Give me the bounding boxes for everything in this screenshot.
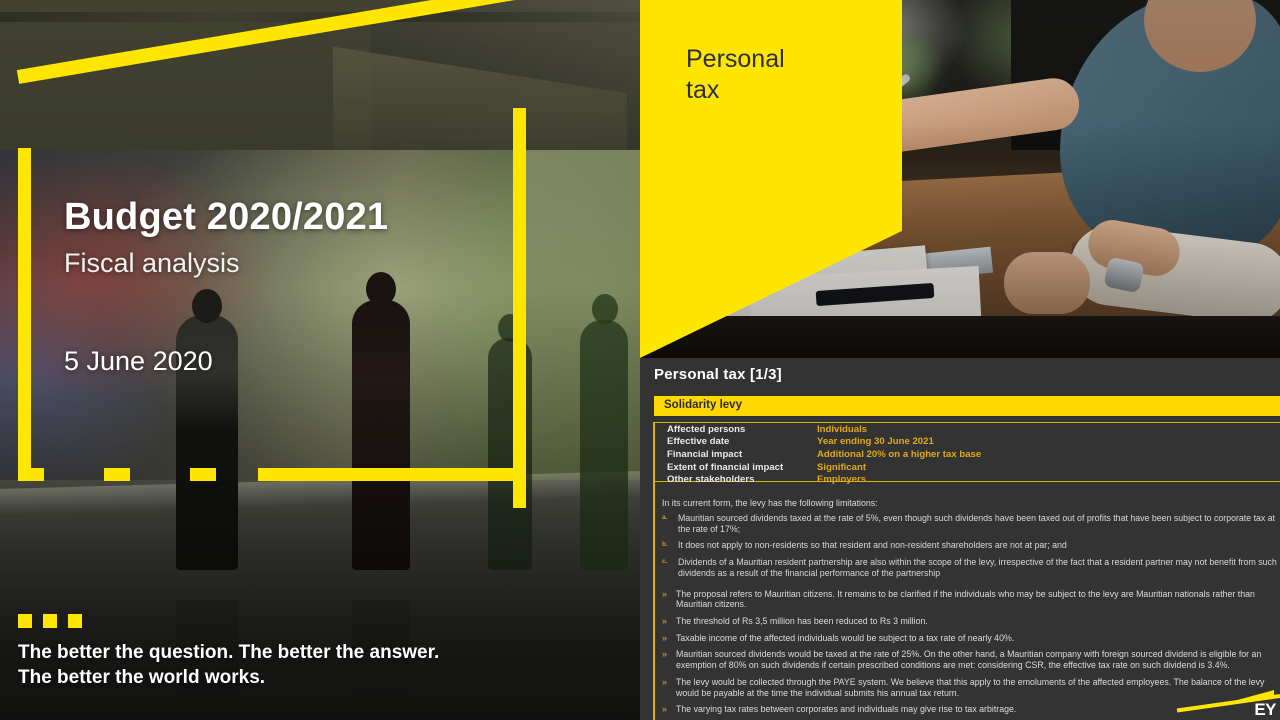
letter-marker-icon: c. bbox=[662, 557, 678, 578]
list-item-text: The varying tax rates between corporates… bbox=[676, 704, 1016, 715]
slide-pair-canvas: Budget 2020/2021 Fiscal analysis 5 June … bbox=[0, 0, 1280, 720]
table-row-value: Significant bbox=[817, 462, 866, 473]
list-item-text: The threshold of Rs 3,5 million has been… bbox=[676, 616, 928, 627]
body-copy: In its current form, the levy has the fo… bbox=[662, 498, 1278, 720]
list-item: »Taxable income of the affected individu… bbox=[662, 633, 1278, 644]
table-row-label: Other stakeholders bbox=[667, 474, 817, 485]
table-row: Financial impactAdditional 20% on a high… bbox=[655, 448, 1280, 461]
presentation-date: 5 June 2020 bbox=[64, 346, 213, 377]
section-label: Personal tax bbox=[686, 44, 785, 105]
list-item-text: Mauritian sourced dividends would be tax… bbox=[676, 649, 1278, 670]
frame-edge-bottom bbox=[258, 468, 526, 481]
list-item-text: The proposal refers to Mauritian citizen… bbox=[676, 589, 1278, 610]
chevron-bullet-icon: » bbox=[662, 649, 676, 670]
section-label-line-1: Personal bbox=[686, 44, 785, 75]
table-row-label: Effective date bbox=[667, 436, 817, 447]
ey-dot-motif bbox=[18, 614, 82, 628]
table-row: Effective dateYear ending 30 June 2021 bbox=[655, 436, 1280, 449]
tagline-line-2: The better the world works. bbox=[18, 665, 439, 690]
arrow-bullet-list: »The proposal refers to Mauritian citize… bbox=[662, 589, 1278, 715]
lettered-bullet-list: a.Mauritian sourced dividends taxed at t… bbox=[662, 513, 1278, 579]
title-block: Budget 2020/2021 Fiscal analysis bbox=[64, 196, 388, 279]
section-banner: Solidarity levy bbox=[654, 396, 1280, 416]
ey-tagline: The better the question. The better the … bbox=[18, 640, 439, 690]
table-row: Affected personsIndividuals bbox=[655, 423, 1280, 436]
letter-marker-icon: b. bbox=[662, 540, 678, 551]
hero-photo: Personal tax bbox=[640, 0, 1280, 358]
page-title: Budget 2020/2021 bbox=[64, 196, 388, 239]
frame-edge-right bbox=[513, 108, 526, 508]
chevron-bullet-icon: » bbox=[662, 704, 676, 715]
frame-dash-square bbox=[18, 468, 44, 481]
section-label-line-2: tax bbox=[686, 75, 785, 106]
title-slide: Budget 2020/2021 Fiscal analysis 5 June … bbox=[0, 0, 640, 720]
section-banner-label: Solidarity levy bbox=[664, 399, 742, 411]
table-row-label: Affected persons bbox=[667, 424, 817, 435]
summary-table: Affected personsIndividualsEffective dat… bbox=[654, 422, 1280, 482]
chevron-bullet-icon: » bbox=[662, 677, 676, 698]
table-row-value: Employers bbox=[817, 474, 866, 485]
list-item: »The levy would be collected through the… bbox=[662, 677, 1278, 698]
dot-square-icon bbox=[43, 614, 57, 628]
ey-wordmark: EY bbox=[1254, 700, 1276, 720]
list-item-text: The levy would be collected through the … bbox=[676, 677, 1278, 698]
chevron-bullet-icon: » bbox=[662, 616, 676, 627]
list-item-text: Mauritian sourced dividends taxed at the… bbox=[678, 513, 1278, 534]
list-item: c.Dividends of a Mauritian resident part… bbox=[662, 557, 1278, 578]
chevron-bullet-icon: » bbox=[662, 589, 676, 610]
content-slide: Personal tax Personal tax [1/3] Solidari… bbox=[640, 0, 1280, 720]
list-item: »The threshold of Rs 3,5 million has bee… bbox=[662, 616, 1278, 627]
page-subtitle: Fiscal analysis bbox=[64, 248, 388, 279]
list-item-text: Taxable income of the affected individua… bbox=[676, 633, 1014, 644]
dot-square-icon bbox=[68, 614, 82, 628]
letter-marker-icon: a. bbox=[662, 513, 678, 534]
table-row-value: Individuals bbox=[817, 424, 867, 435]
table-row: Extent of financial impactSignificant bbox=[655, 461, 1280, 474]
lead-paragraph: In its current form, the levy has the fo… bbox=[662, 498, 1278, 508]
frame-edge-left bbox=[18, 148, 31, 481]
list-item-text: Dividends of a Mauritian resident partne… bbox=[678, 557, 1278, 578]
list-item: a.Mauritian sourced dividends taxed at t… bbox=[662, 513, 1278, 534]
table-row-value: Year ending 30 June 2021 bbox=[817, 436, 934, 447]
list-item-text: It does not apply to non-residents so th… bbox=[678, 540, 1067, 551]
tagline-line-1: The better the question. The better the … bbox=[18, 640, 439, 665]
table-row-label: Financial impact bbox=[667, 449, 817, 460]
frame-dash-square bbox=[190, 468, 216, 481]
ey-logo: EY bbox=[1222, 672, 1278, 718]
content-area: Personal tax [1/3] Solidarity levy Affec… bbox=[640, 358, 1280, 720]
slide-title: Personal tax [1/3] bbox=[654, 366, 782, 383]
dot-square-icon bbox=[18, 614, 32, 628]
frame-dash-square bbox=[104, 468, 130, 481]
table-row-label: Extent of financial impact bbox=[667, 462, 817, 473]
table-row: Other stakeholdersEmployers bbox=[655, 473, 1280, 486]
list-item: »Mauritian sourced dividends would be ta… bbox=[662, 649, 1278, 670]
chevron-bullet-icon: » bbox=[662, 633, 676, 644]
table-row-value: Additional 20% on a higher tax base bbox=[817, 449, 981, 460]
list-item: b.It does not apply to non-residents so … bbox=[662, 540, 1278, 551]
list-item: »The proposal refers to Mauritian citize… bbox=[662, 589, 1278, 610]
